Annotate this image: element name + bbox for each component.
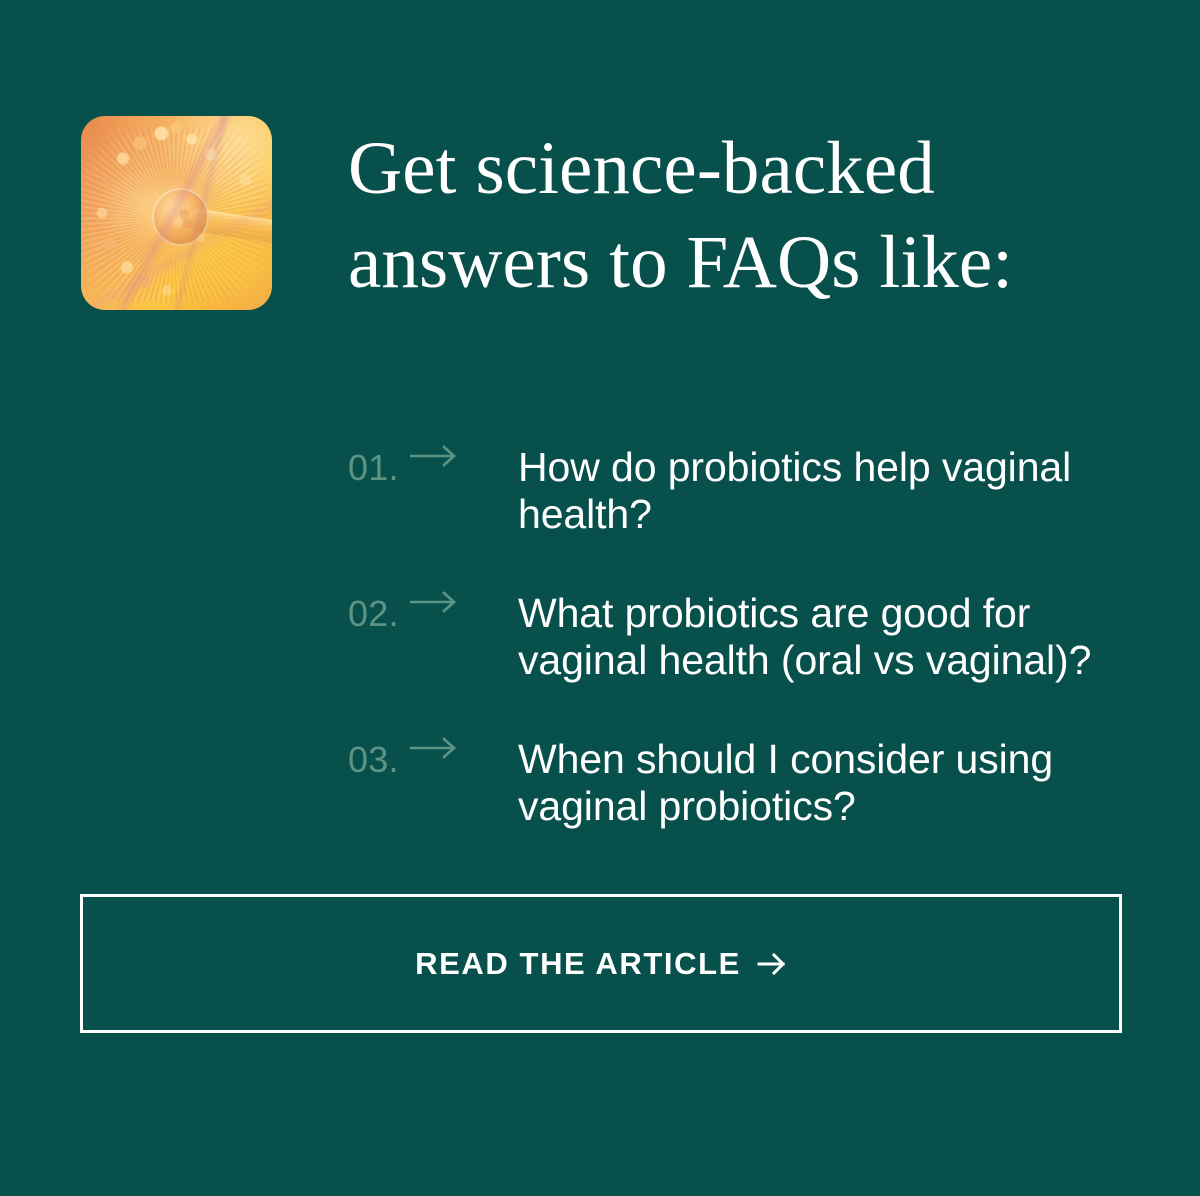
faq-item-question: When should I consider using vaginal pro… bbox=[518, 736, 1138, 830]
faq-list: 01. How do probiotics help vaginal healt… bbox=[348, 444, 1138, 830]
page-title: Get science-backed answers to FAQs like: bbox=[348, 116, 1013, 310]
card-header: Get science-backed answers to FAQs like: bbox=[81, 116, 1121, 310]
arrow-right-icon bbox=[410, 736, 518, 760]
promo-card: Get science-backed answers to FAQs like:… bbox=[0, 0, 1200, 1196]
read-the-article-button[interactable]: READ THE ARTICLE bbox=[80, 894, 1122, 1033]
cta-label: READ THE ARTICLE bbox=[415, 948, 741, 979]
arrow-right-icon bbox=[757, 951, 787, 977]
faq-item-question: What probiotics are good for vaginal hea… bbox=[518, 590, 1138, 684]
thumbnail-sheen bbox=[81, 116, 272, 310]
faq-item-question: How do probiotics help vaginal health? bbox=[518, 444, 1138, 538]
faq-item-number: 03. bbox=[348, 736, 410, 784]
arrow-right-icon bbox=[410, 590, 518, 614]
thumbnail-image bbox=[81, 116, 272, 310]
arrow-right-icon bbox=[410, 444, 518, 468]
faq-item-number: 02. bbox=[348, 590, 410, 638]
faq-item-number: 01. bbox=[348, 444, 410, 492]
list-item[interactable]: 03. When should I consider using vaginal… bbox=[348, 736, 1138, 830]
list-item[interactable]: 01. How do probiotics help vaginal healt… bbox=[348, 444, 1138, 538]
list-item[interactable]: 02. What probiotics are good for vaginal… bbox=[348, 590, 1138, 684]
